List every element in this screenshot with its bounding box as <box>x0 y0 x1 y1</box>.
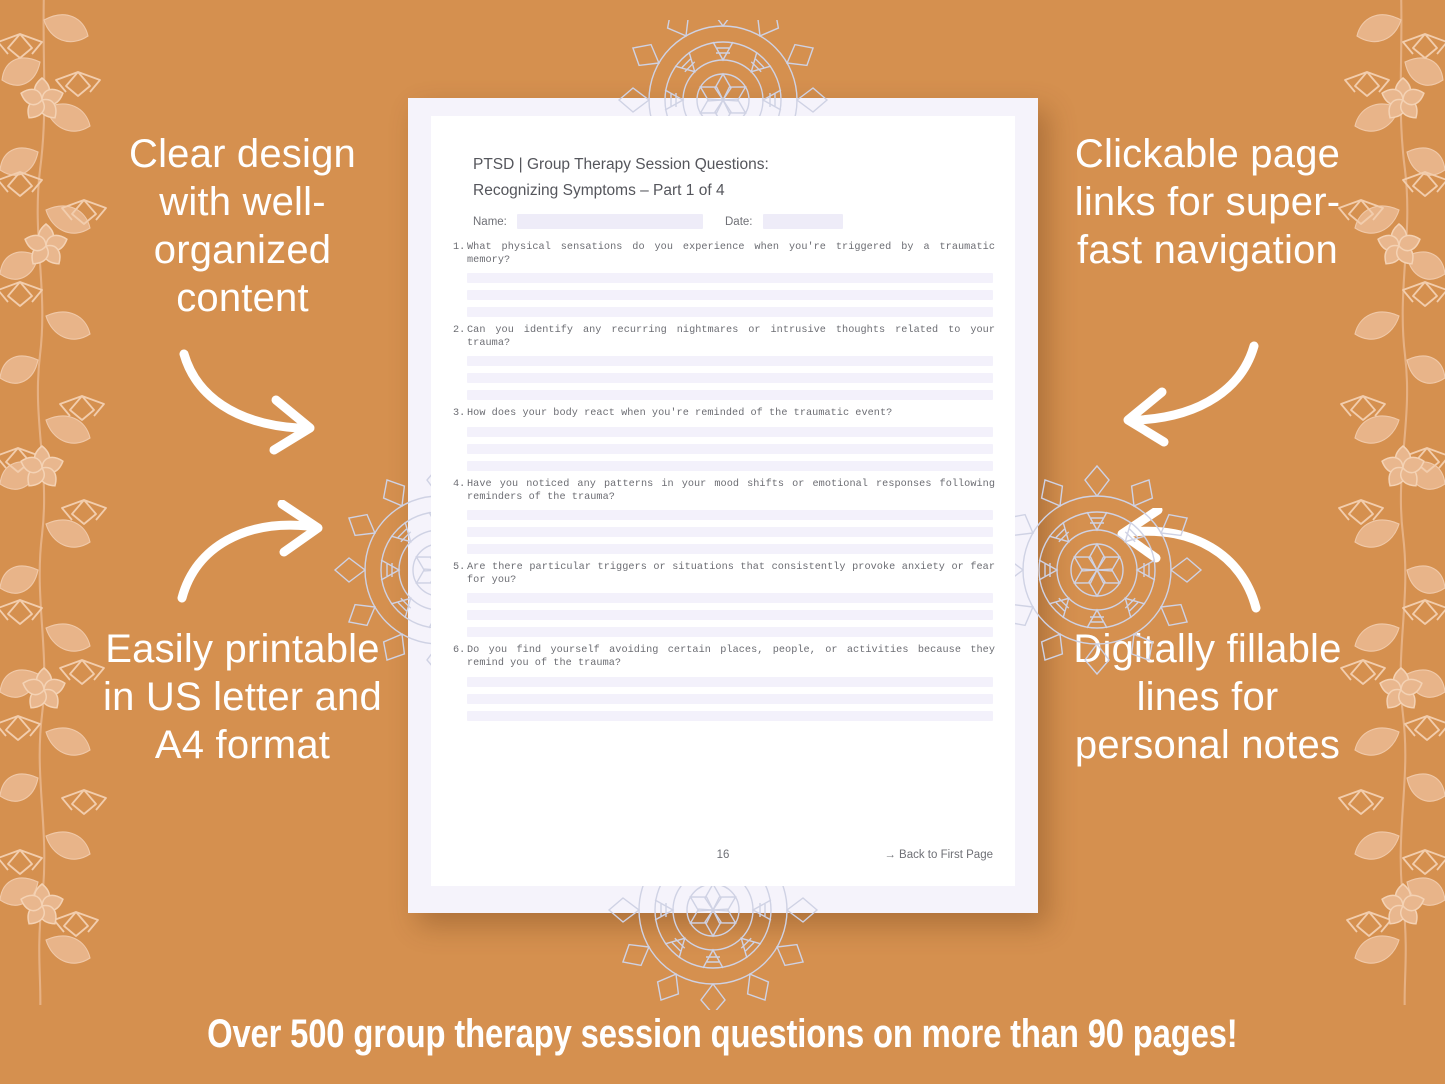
answer-lines[interactable] <box>467 677 993 721</box>
answer-line[interactable] <box>467 627 993 637</box>
question-text: Can you identify any recurring nightmare… <box>467 325 995 350</box>
poster-canvas: Clear design with well-organized content… <box>0 0 1445 1084</box>
question-item: 3.How does your body react when you're r… <box>431 408 1015 471</box>
answer-line[interactable] <box>467 356 993 366</box>
banner-text: Over 500 group therapy session questions… <box>207 1012 1237 1057</box>
name-date-row: Name: Date: <box>473 214 973 230</box>
promo-text-printable: Easily printable in US letter and A4 for… <box>95 625 390 769</box>
answer-line[interactable] <box>467 593 993 603</box>
worksheet-sheet: PTSD | Group Therapy Session Questions: … <box>431 116 1015 886</box>
question-item: 4.Have you noticed any patterns in your … <box>431 479 1015 554</box>
curved-arrow-left-up-icon <box>1090 508 1270 623</box>
answer-line[interactable] <box>467 273 993 283</box>
answer-line[interactable] <box>467 510 993 520</box>
question-number: 1. <box>453 242 465 255</box>
date-label: Date: <box>725 214 753 230</box>
page-title: PTSD | Group Therapy Session Questions: … <box>473 152 973 204</box>
name-input[interactable] <box>517 214 703 229</box>
answer-line[interactable] <box>467 427 993 437</box>
curved-arrow-left-down-icon <box>1090 340 1270 455</box>
promo-text-fillable-lines: Digitally fillable lines for personal no… <box>1060 625 1355 769</box>
question-item: 2.Can you identify any recurring nightma… <box>431 325 1015 400</box>
question-item: 5.Are there particular triggers or situa… <box>431 562 1015 637</box>
question-number: 3. <box>453 408 465 421</box>
bottom-banner: Over 500 group therapy session questions… <box>0 984 1445 1084</box>
promo-text-clickable-links: Clickable page links for super-fast navi… <box>1060 130 1355 274</box>
question-list: 1.What physical sensations do you experi… <box>431 242 1015 729</box>
answer-lines[interactable] <box>467 356 993 400</box>
question-text: What physical sensations do you experien… <box>467 242 995 267</box>
answer-lines[interactable] <box>467 427 993 471</box>
answer-line[interactable] <box>467 373 993 383</box>
page-footer: 16 → Back to First Page <box>431 846 1015 864</box>
question-number: 5. <box>453 562 465 575</box>
answer-line[interactable] <box>467 544 993 554</box>
date-input[interactable] <box>763 214 843 229</box>
doc-title-line1: PTSD | Group Therapy Session Questions: <box>473 152 973 178</box>
question-item: 1.What physical sensations do you experi… <box>431 242 1015 317</box>
answer-line[interactable] <box>467 444 993 454</box>
answer-line[interactable] <box>467 390 993 400</box>
question-number: 2. <box>453 325 465 338</box>
answer-line[interactable] <box>467 610 993 620</box>
question-text: Have you noticed any patterns in your mo… <box>467 479 995 504</box>
answer-line[interactable] <box>467 677 993 687</box>
answer-line[interactable] <box>467 711 993 721</box>
answer-line[interactable] <box>467 290 993 300</box>
question-text: How does your body react when you're rem… <box>467 408 995 421</box>
question-number: 6. <box>453 645 465 658</box>
question-item: 6.Do you find yourself avoiding certain … <box>431 645 1015 720</box>
answer-lines[interactable] <box>467 273 993 317</box>
answer-line[interactable] <box>467 694 993 704</box>
answer-lines[interactable] <box>467 593 993 637</box>
question-text: Are there particular triggers or situati… <box>467 562 995 587</box>
curved-arrow-right-up-icon <box>170 500 350 615</box>
answer-line[interactable] <box>467 527 993 537</box>
promo-text-clear-design: Clear design with well-organized content <box>95 130 390 322</box>
doc-title-line2: Recognizing Symptoms – Part 1 of 4 <box>473 178 973 204</box>
curved-arrow-right-down-icon <box>170 348 350 463</box>
name-label: Name: <box>473 214 507 230</box>
answer-lines[interactable] <box>467 510 993 554</box>
answer-line[interactable] <box>467 461 993 471</box>
document-page-preview[interactable]: PTSD | Group Therapy Session Questions: … <box>408 98 1038 913</box>
answer-line[interactable] <box>467 307 993 317</box>
back-to-first-page-link[interactable]: → Back to First Page <box>884 846 993 864</box>
question-text: Do you find yourself avoiding certain pl… <box>467 645 995 670</box>
question-number: 4. <box>453 479 465 492</box>
